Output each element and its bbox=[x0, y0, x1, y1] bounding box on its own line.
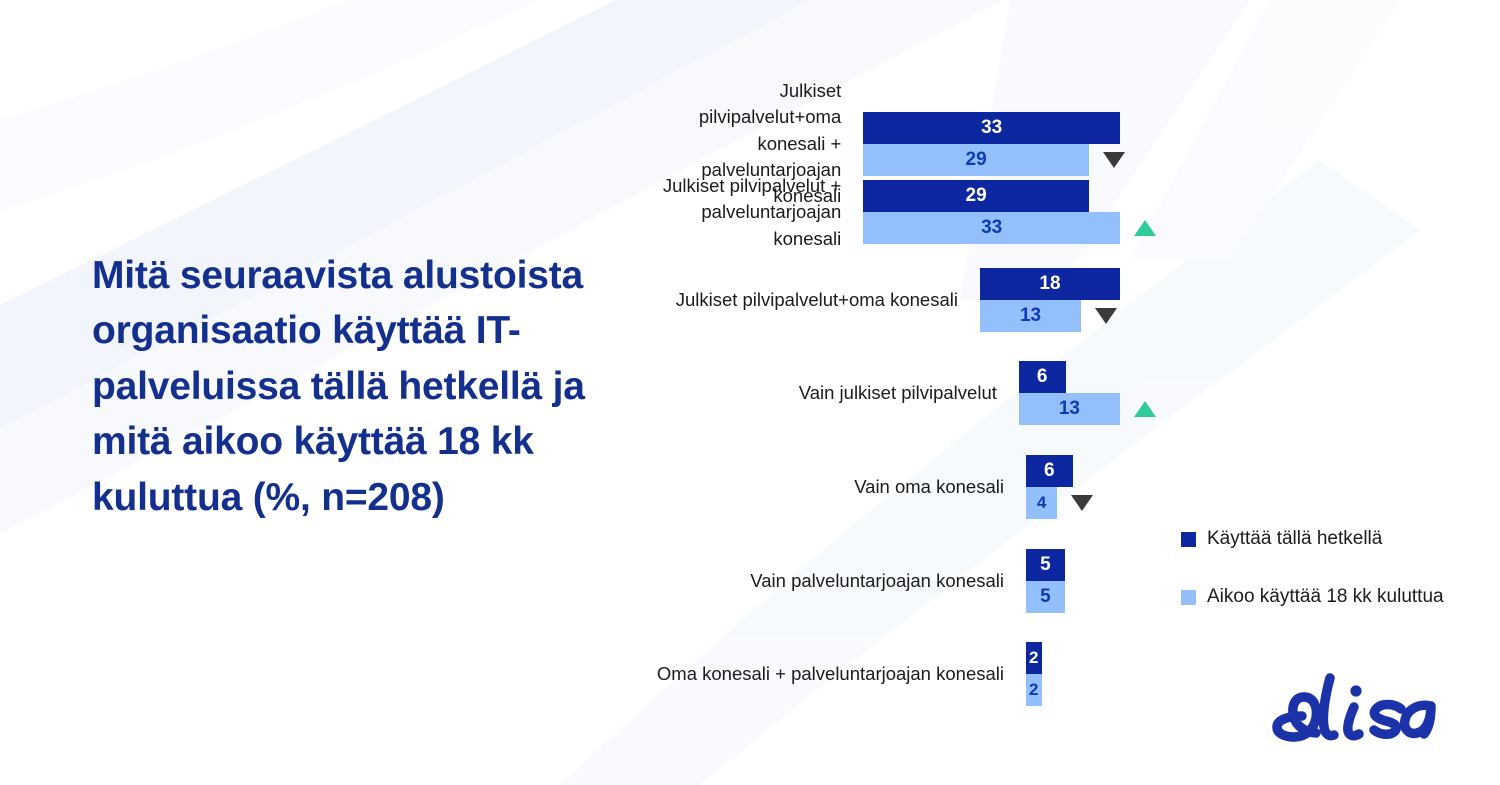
bar-current[interactable]: 6 bbox=[1019, 361, 1066, 393]
bar-value: 5 bbox=[1040, 554, 1051, 576]
trend-down-icon bbox=[1071, 495, 1093, 511]
category-label: Julkiset pilvipalvelut+oma konesali bbox=[640, 287, 980, 313]
bar-current[interactable]: 33 bbox=[863, 112, 1120, 144]
bar-row: Vain julkiset pilvipalvelut613 bbox=[640, 361, 1120, 425]
bar-value: 6 bbox=[1044, 460, 1055, 482]
bar-planned[interactable]: 2 bbox=[1026, 674, 1042, 706]
bar-value: 2 bbox=[1029, 680, 1038, 700]
bar-current[interactable]: 6 bbox=[1026, 455, 1073, 487]
trend-down-icon bbox=[1103, 152, 1125, 168]
elisa-logo-icon bbox=[1268, 666, 1440, 744]
bar-planned[interactable]: 13 bbox=[1019, 393, 1120, 425]
legend-item-current[interactable]: Käyttää tällä hetkellä bbox=[1181, 528, 1444, 550]
trend-up-icon bbox=[1134, 220, 1156, 236]
bar-row: Vain palveluntarjoajan konesali55 bbox=[640, 549, 1120, 613]
category-label: Oma konesali + palveluntarjoajan konesal… bbox=[640, 661, 1026, 687]
title-block: Mitä seuraavista alustoista organisaatio… bbox=[92, 248, 662, 525]
chart-legend: Käyttää tällä hetkellä Aikoo käyttää 18 … bbox=[1181, 528, 1444, 644]
bar-row: Julkiset pilvipalvelut + palveluntarjoaj… bbox=[640, 173, 1120, 252]
legend-label-planned: Aikoo käyttää 18 kk kuluttua bbox=[1207, 586, 1444, 608]
category-label: Vain oma konesali bbox=[640, 474, 1026, 500]
bar-value: 18 bbox=[1039, 273, 1060, 295]
bar-value: 2 bbox=[1029, 648, 1038, 668]
bar-group: 3329 bbox=[863, 112, 1120, 176]
bar-group: 613 bbox=[1019, 361, 1120, 425]
bar-group: 22 bbox=[1026, 642, 1042, 706]
bar-planned[interactable]: 5 bbox=[1026, 581, 1065, 613]
bar-group: 1813 bbox=[980, 268, 1120, 332]
trend-up-icon bbox=[1134, 401, 1156, 417]
trend-down-icon bbox=[1095, 308, 1117, 324]
bar-value: 33 bbox=[981, 217, 1002, 239]
bar-value: 29 bbox=[966, 149, 987, 171]
bar-row: Oma konesali + palveluntarjoajan konesal… bbox=[640, 642, 1120, 706]
bar-row: Julkiset pilvipalvelut+oma konesali1813 bbox=[640, 268, 1120, 332]
category-label: Vain palveluntarjoajan konesali bbox=[640, 568, 1026, 594]
bar-current[interactable]: 29 bbox=[863, 180, 1089, 212]
page-title: Mitä seuraavista alustoista organisaatio… bbox=[92, 248, 662, 525]
bar-value: 33 bbox=[981, 117, 1002, 139]
elisa-logo bbox=[1268, 666, 1440, 749]
category-label: Julkiset pilvipalvelut + palveluntarjoaj… bbox=[640, 173, 863, 252]
legend-label-current: Käyttää tällä hetkellä bbox=[1207, 528, 1382, 550]
legend-item-planned[interactable]: Aikoo käyttää 18 kk kuluttua bbox=[1181, 586, 1444, 608]
bar-planned[interactable]: 33 bbox=[863, 212, 1120, 244]
bar-value: 4 bbox=[1037, 493, 1046, 513]
legend-swatch-planned-icon bbox=[1181, 590, 1196, 605]
bar-group: 2933 bbox=[863, 180, 1120, 244]
bar-current[interactable]: 2 bbox=[1026, 642, 1042, 674]
bar-value: 6 bbox=[1037, 366, 1048, 388]
legend-swatch-current-icon bbox=[1181, 532, 1196, 547]
bar-current[interactable]: 5 bbox=[1026, 549, 1065, 581]
bar-value: 29 bbox=[966, 185, 987, 207]
bar-current[interactable]: 18 bbox=[980, 268, 1120, 300]
bar-planned[interactable]: 29 bbox=[863, 144, 1089, 176]
bar-value: 13 bbox=[1020, 305, 1041, 327]
bar-value: 5 bbox=[1040, 586, 1051, 608]
bar-value: 13 bbox=[1059, 398, 1080, 420]
category-label: Vain julkiset pilvipalvelut bbox=[640, 380, 1019, 406]
bar-group: 55 bbox=[1026, 549, 1065, 613]
bar-planned[interactable]: 13 bbox=[980, 300, 1081, 332]
bar-row: Vain oma konesali64 bbox=[640, 455, 1120, 519]
bar-planned[interactable]: 4 bbox=[1026, 487, 1057, 519]
bar-group: 64 bbox=[1026, 455, 1073, 519]
